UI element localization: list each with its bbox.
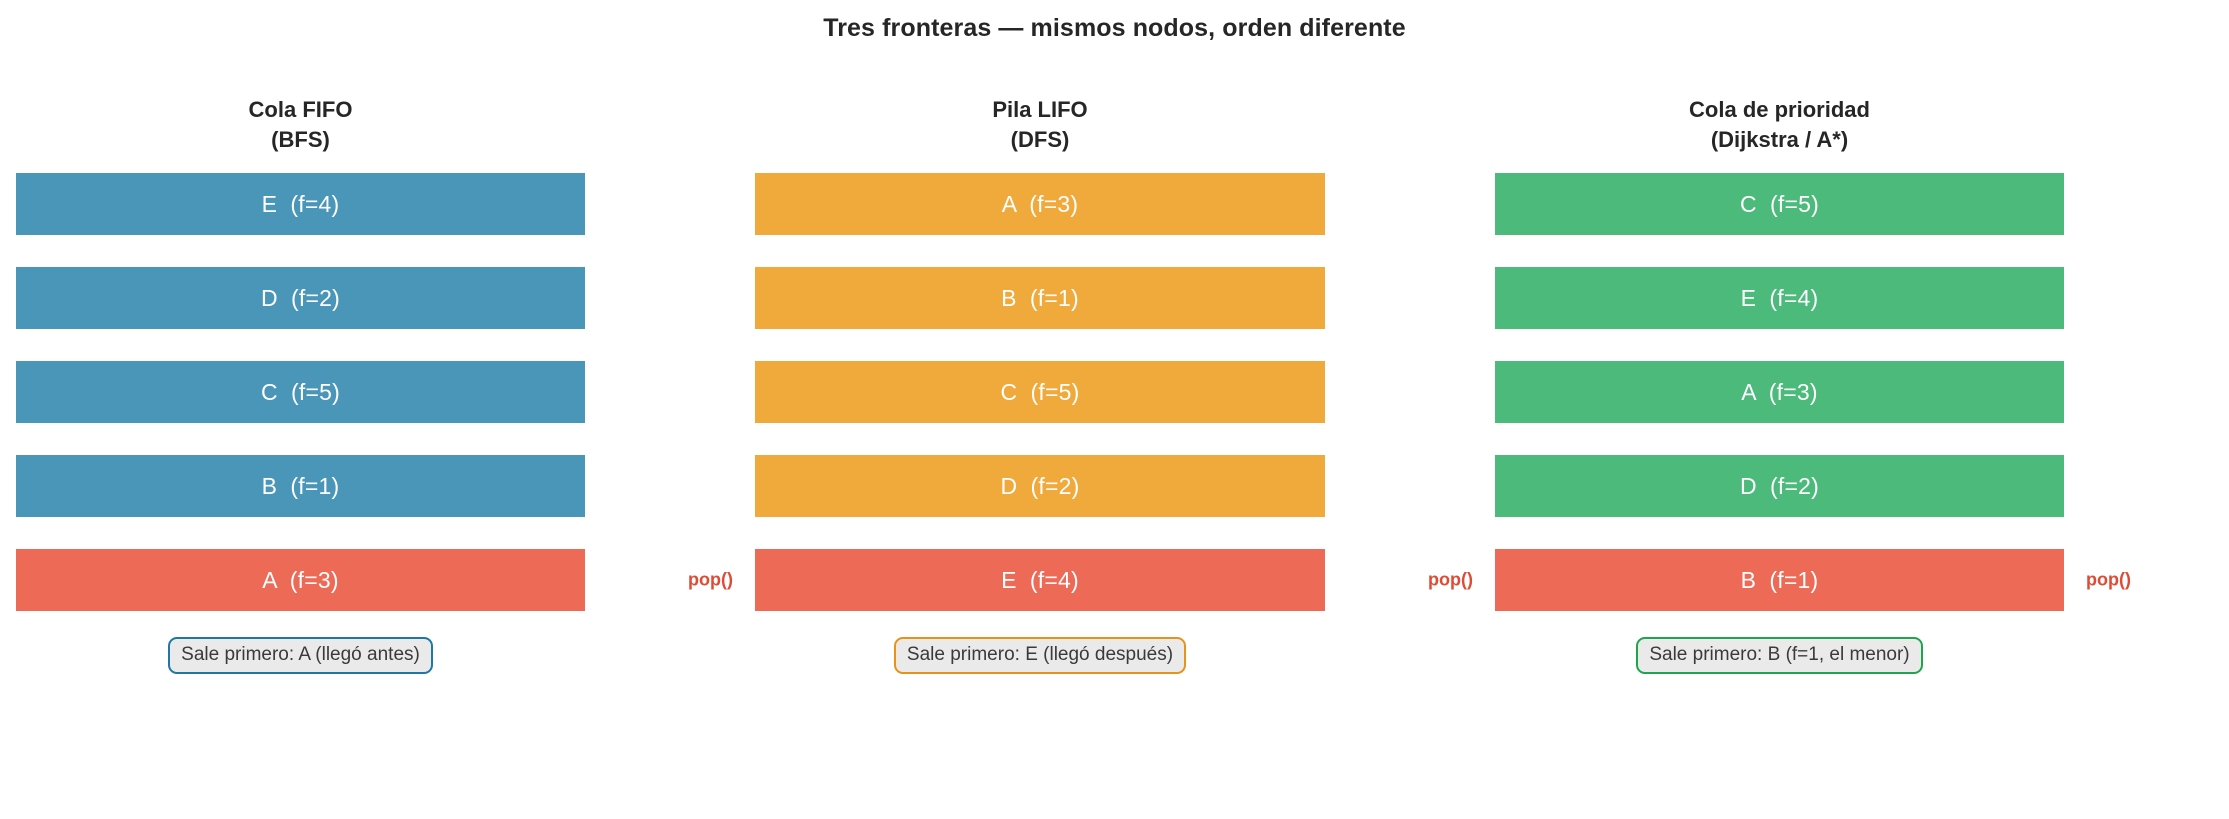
queue-item[interactable]: A (f=3) bbox=[755, 173, 1325, 235]
queue-item-label: C (f=5) bbox=[1001, 379, 1080, 406]
queue-item[interactable]: D (f=2) bbox=[1495, 455, 2064, 517]
queue-item-label: E (f=4) bbox=[1741, 285, 1819, 312]
queue-item-label: C (f=5) bbox=[261, 379, 340, 406]
column-header-fifo: Cola FIFO (BFS) bbox=[16, 95, 585, 155]
frontier-column-priority: Cola de prioridad (Dijkstra / A*)C (f=5)… bbox=[1495, 95, 2064, 674]
caption-wrap-priority: Sale primero: B (f=1, el menor) bbox=[1495, 637, 2064, 674]
queue-item[interactable]: C (f=5) bbox=[16, 361, 585, 423]
queue-item[interactable]: D (f=2) bbox=[755, 455, 1325, 517]
pop-annotation-right: pop() bbox=[2086, 570, 2131, 591]
queue-item[interactable]: C (f=5) bbox=[1495, 173, 2064, 235]
frontier-column-fifo: Cola FIFO (BFS)E (f=4)D (f=2)C (f=5)B (f… bbox=[16, 95, 585, 674]
pop-annotation-left: pop() bbox=[1428, 570, 1473, 591]
result-caption-priority: Sale primero: B (f=1, el menor) bbox=[1636, 637, 1922, 674]
queue-item-popping[interactable]: A (f=3)pop() bbox=[16, 549, 585, 611]
queue-item-label: D (f=2) bbox=[1001, 473, 1080, 500]
queue-stack-priority: C (f=5)E (f=4)A (f=3)D (f=2)B (f=1)pop()… bbox=[1495, 173, 2064, 611]
queue-item[interactable]: D (f=2) bbox=[16, 267, 585, 329]
frontier-column-lifo: Pila LIFO (DFS)A (f=3)B (f=1)C (f=5)D (f… bbox=[755, 95, 1325, 674]
queue-stack-fifo: E (f=4)D (f=2)C (f=5)B (f=1)A (f=3)pop() bbox=[16, 173, 585, 611]
result-caption-lifo: Sale primero: E (llegó después) bbox=[894, 637, 1186, 674]
queue-item-popping[interactable]: B (f=1)pop()pop() bbox=[1495, 549, 2064, 611]
queue-item-label: E (f=4) bbox=[262, 191, 340, 218]
queue-item[interactable]: E (f=4) bbox=[16, 173, 585, 235]
queue-item-label: E (f=4) bbox=[1001, 567, 1079, 594]
queue-item-label: B (f=1) bbox=[1001, 285, 1079, 312]
queue-item[interactable]: E (f=4) bbox=[1495, 267, 2064, 329]
queue-item-label: A (f=3) bbox=[262, 567, 338, 594]
caption-wrap-lifo: Sale primero: E (llegó después) bbox=[755, 637, 1325, 674]
caption-wrap-fifo: Sale primero: A (llegó antes) bbox=[16, 637, 585, 674]
column-header-lifo: Pila LIFO (DFS) bbox=[755, 95, 1325, 155]
queue-item[interactable]: B (f=1) bbox=[16, 455, 585, 517]
queue-item-label: A (f=3) bbox=[1002, 191, 1078, 218]
column-header-priority: Cola de prioridad (Dijkstra / A*) bbox=[1495, 95, 2064, 155]
queue-item-popping[interactable]: E (f=4)pop() bbox=[755, 549, 1325, 611]
result-caption-fifo: Sale primero: A (llegó antes) bbox=[168, 637, 433, 674]
queue-stack-lifo: A (f=3)B (f=1)C (f=5)D (f=2)E (f=4)pop() bbox=[755, 173, 1325, 611]
page-title: Tres fronteras — mismos nodos, orden dif… bbox=[0, 14, 2229, 43]
pop-annotation-left: pop() bbox=[688, 570, 733, 591]
queue-item[interactable]: A (f=3) bbox=[1495, 361, 2064, 423]
queue-item-label: B (f=1) bbox=[262, 473, 340, 500]
queue-item-label: C (f=5) bbox=[1740, 191, 1819, 218]
queue-item-label: A (f=3) bbox=[1741, 379, 1817, 406]
queue-item[interactable]: C (f=5) bbox=[755, 361, 1325, 423]
queue-item-label: D (f=2) bbox=[261, 285, 340, 312]
queue-item[interactable]: B (f=1) bbox=[755, 267, 1325, 329]
queue-item-label: B (f=1) bbox=[1741, 567, 1819, 594]
queue-item-label: D (f=2) bbox=[1740, 473, 1819, 500]
